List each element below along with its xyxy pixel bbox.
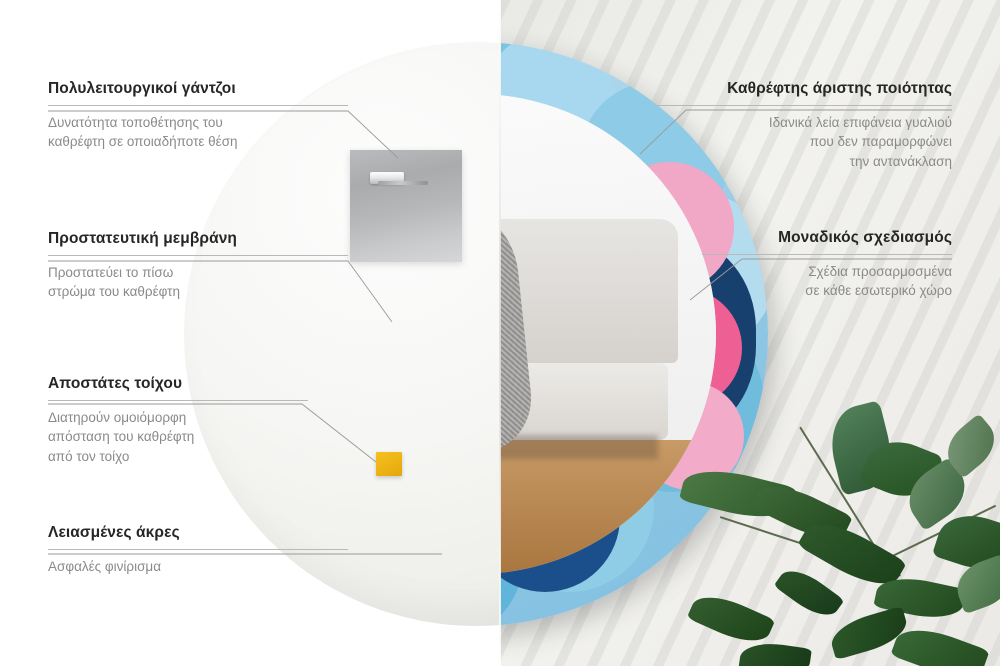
callout-design-rule: [702, 254, 952, 255]
callout-edges-description: Ασφαλές φινίρισμα: [48, 557, 348, 577]
callout-membrane-description: Προστατεύει το πίσωστρώμα του καθρέφτη: [48, 263, 348, 302]
protective-membrane: [350, 150, 462, 262]
callout-design-description: Σχέδια προσαρμοσμένασε κάθε εσωτερικό χώ…: [702, 262, 952, 301]
callout-membrane: Προστατευτική μεμβράνη Προστατεύει το πί…: [48, 230, 348, 302]
hanging-hook: [370, 172, 428, 185]
callout-quality-description: Ιδανικά λεία επιφάνεια γυαλιούπου δεν πα…: [652, 113, 952, 172]
callout-edges-rule: [48, 549, 348, 550]
callout-membrane-title: Προστατευτική μεμβράνη: [48, 230, 348, 249]
callout-spacers-title: Αποστάτες τοίχου: [48, 375, 308, 394]
callout-spacers: Αποστάτες τοίχου Διατηρούν ομοιόμορφηαπό…: [48, 375, 308, 466]
reflected-sofa-back: [500, 219, 678, 363]
callout-quality-rule: [652, 105, 952, 106]
wall-spacer: [376, 452, 402, 476]
eucalyptus-foliage: [680, 366, 1000, 666]
callout-spacers-rule: [48, 400, 308, 401]
infographic-stage: Πολυλειτουργικοί γάντζοι Δυνατότητα τοπο…: [0, 0, 1000, 666]
hook-bar-icon: [378, 181, 428, 185]
callout-membrane-rule: [48, 255, 348, 256]
callout-hooks-rule: [48, 105, 348, 106]
panel-divider: [499, 0, 501, 666]
callout-design: Μοναδικός σχεδιασμός Σχέδια προσαρμοσμέν…: [702, 229, 952, 301]
callout-design-title: Μοναδικός σχεδιασμός: [702, 229, 952, 248]
callout-spacers-description: Διατηρούν ομοιόμορφηαπόσταση του καθρέφτ…: [48, 408, 308, 467]
reflected-sofa-shadow: [500, 435, 658, 459]
callout-hooks-title: Πολυλειτουργικοί γάντζοι: [48, 80, 348, 99]
callout-quality-title: Καθρέφτης άριστης ποιότητας: [652, 80, 952, 99]
callout-edges-title: Λειασμένες άκρες: [48, 524, 348, 543]
callout-quality: Καθρέφτης άριστης ποιότητας Ιδανικά λεία…: [652, 80, 952, 171]
callout-hooks: Πολυλειτουργικοί γάντζοι Δυνατότητα τοπο…: [48, 80, 348, 152]
callout-hooks-description: Δυνατότητα τοποθέτησης τουκαθρέφτη σε οπ…: [48, 113, 348, 152]
callout-edges: Λειασμένες άκρες Ασφαλές φινίρισμα: [48, 524, 348, 576]
